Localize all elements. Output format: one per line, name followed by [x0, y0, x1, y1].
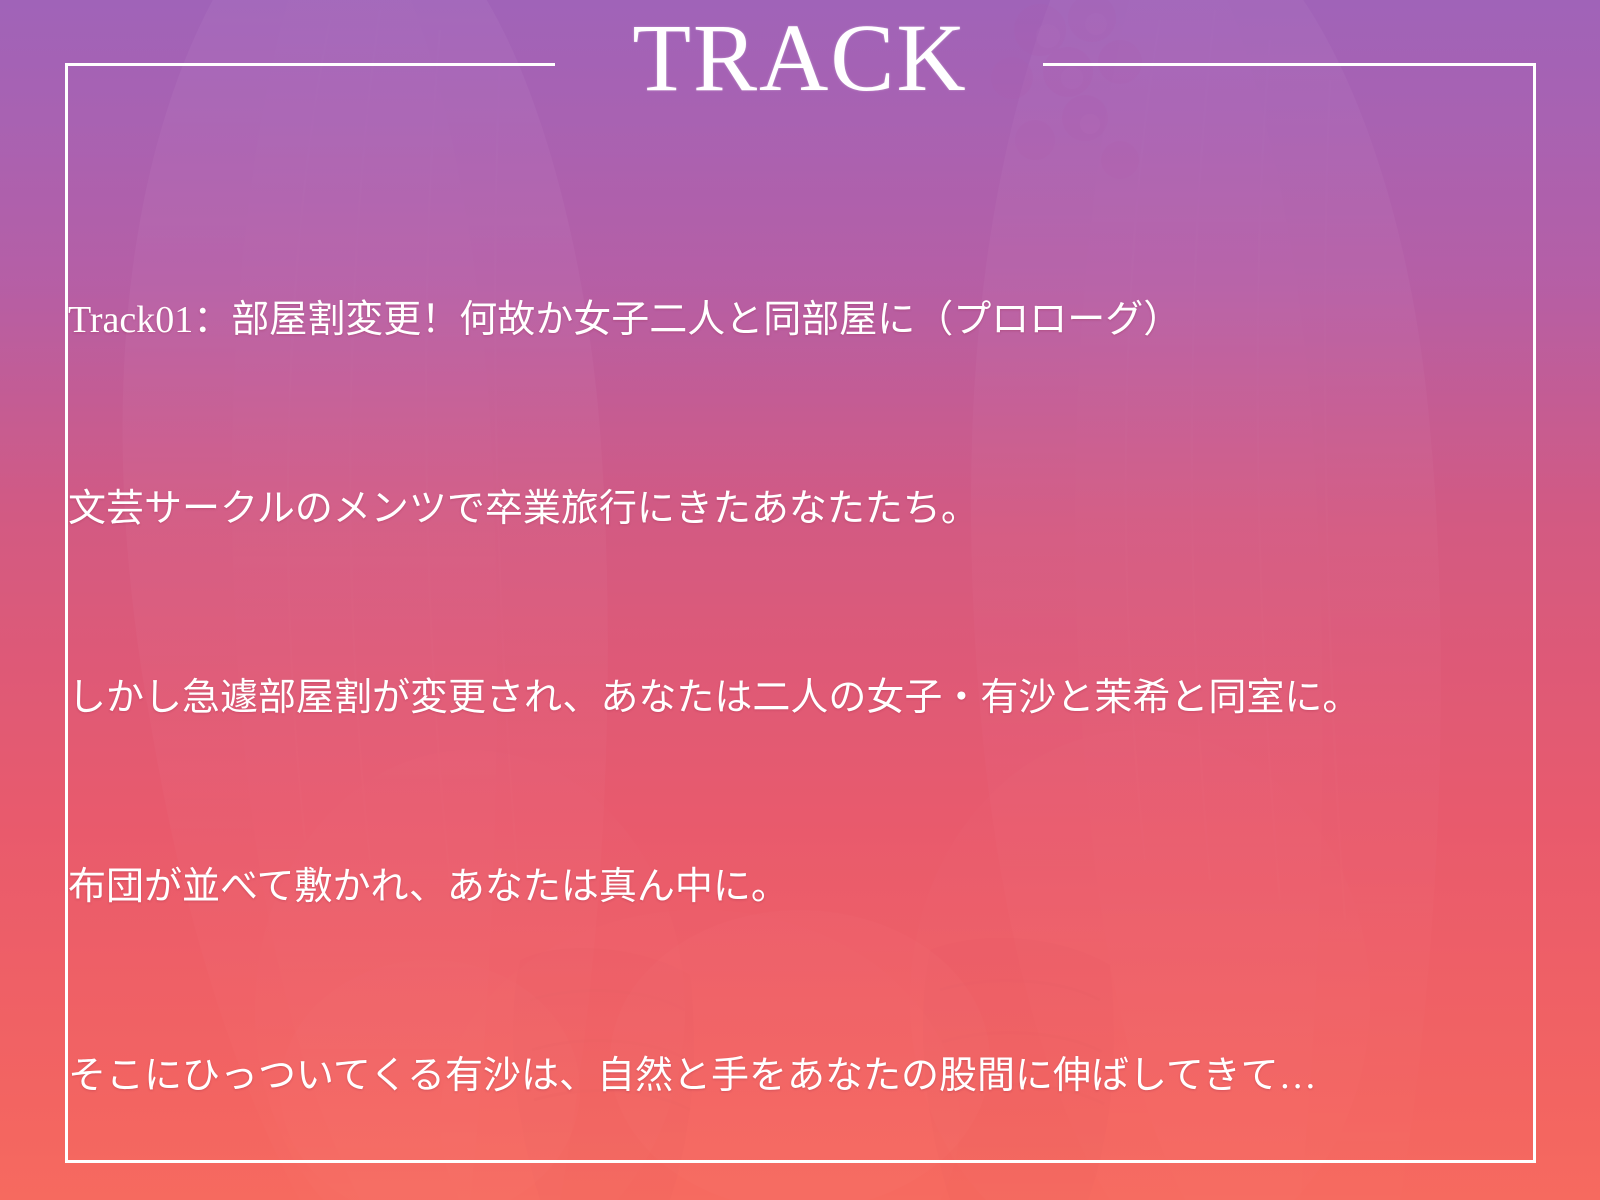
track01-line-3: 布団が並べて敷かれ、あなたは真ん中に。 — [68, 856, 1518, 919]
track01-line-4: そこにひっついてくる有沙は、自然と手をあなたの股間に伸ばしてきて… — [68, 1045, 1518, 1108]
track-list-page: TRACK Track01：部屋割変更！何故か女子二人と同部屋に（プロローグ） … — [0, 0, 1600, 1200]
page-title: TRACK — [0, 10, 1600, 106]
track01-heading: Track01：部屋割変更！何故か女子二人と同部屋に（プロローグ） — [68, 289, 1518, 352]
frame-right-rule — [1533, 63, 1536, 1163]
track01-line-2: しかし急遽部屋割が変更され、あなたは二人の女子・有沙と茉希と同室に。 — [68, 667, 1518, 730]
track01-line-1: 文芸サークルのメンツで卒業旅行にきたあなたたち。 — [68, 478, 1518, 541]
track-descriptions: Track01：部屋割変更！何故か女子二人と同部屋に（プロローグ） 文芸サークル… — [68, 100, 1518, 1200]
